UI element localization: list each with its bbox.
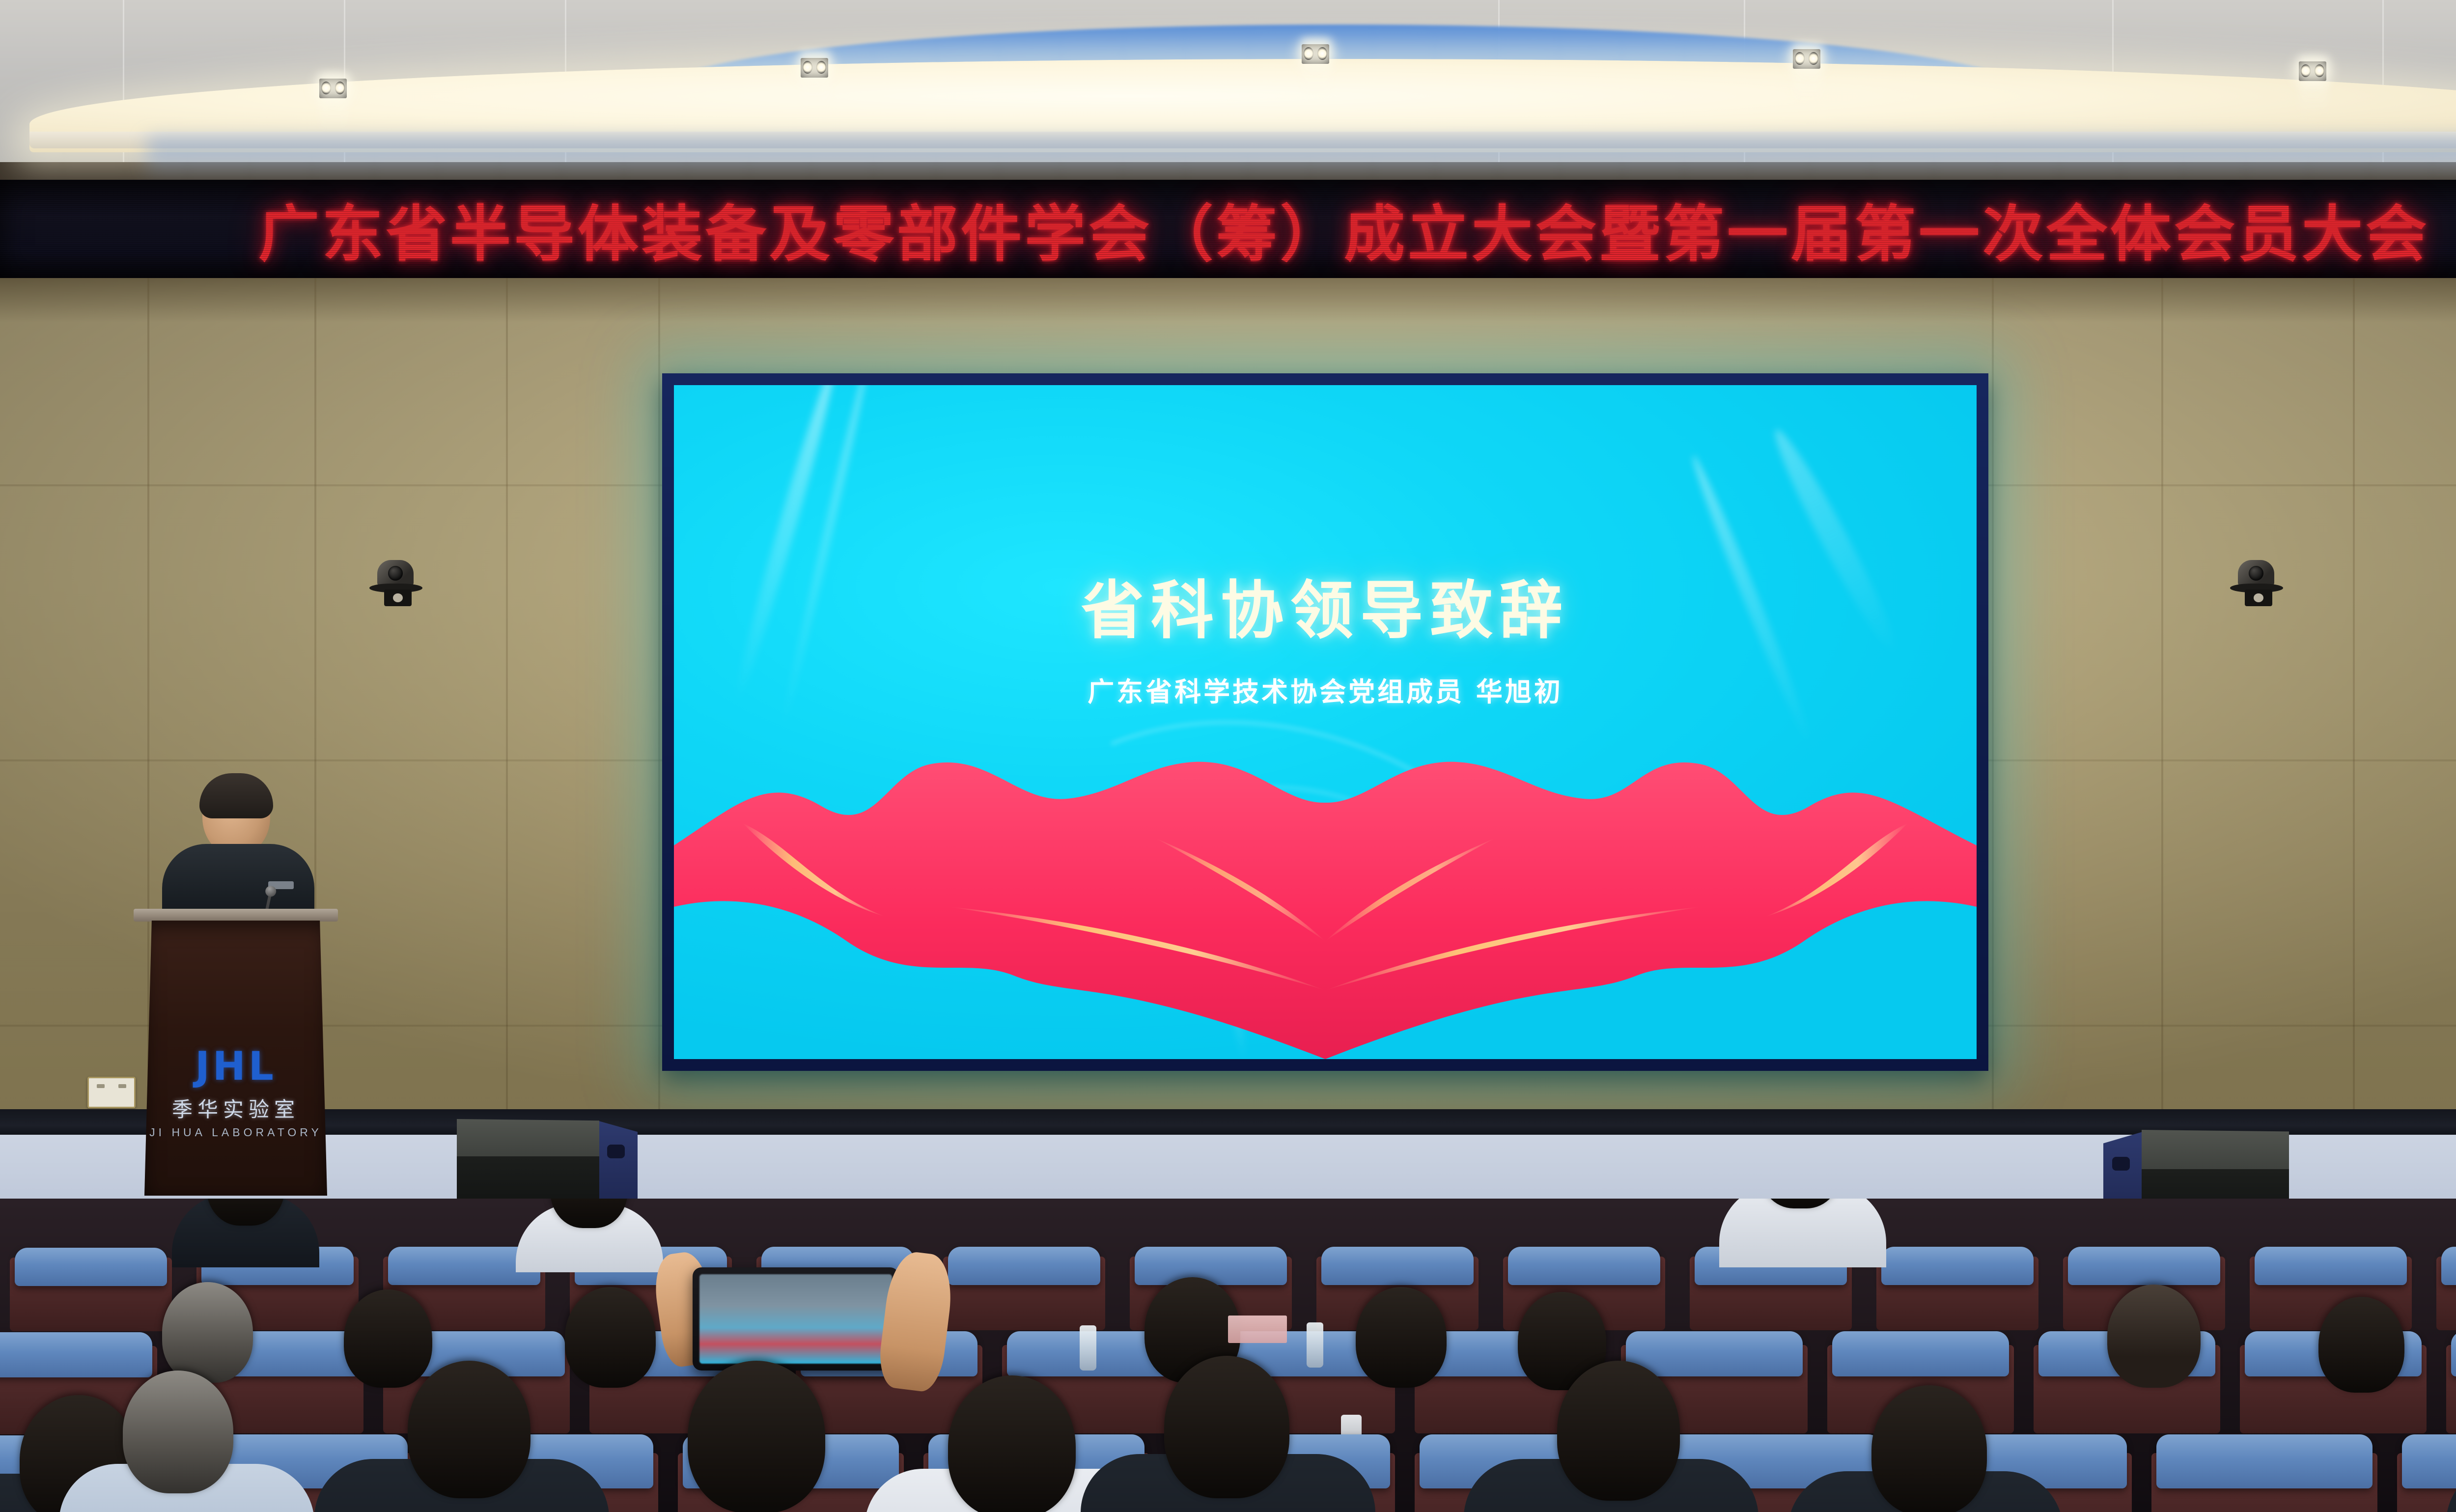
podium-body: JHL 季华实验室 JI HUA LABORATORY: [144, 921, 327, 1196]
seat: [2255, 1247, 2407, 1285]
podium-logo: JHL 季华实验室 JI HUA LABORATORY: [144, 1043, 327, 1139]
speaker-hair: [199, 773, 273, 818]
wall-power-outlet-left[interactable]: [87, 1077, 136, 1108]
slide-title: 省科协领导致辞: [674, 560, 1977, 650]
audience-head: [1557, 1361, 1680, 1501]
seat: [1832, 1331, 2009, 1376]
podium: JHL 季华实验室 JI HUA LABORATORY: [138, 909, 334, 1208]
ceiling-downlight: [319, 79, 347, 98]
seat: [948, 1247, 1100, 1285]
camera-head-icon: [2238, 560, 2274, 587]
seat: [1626, 1331, 1803, 1376]
phone-screen: [699, 1274, 892, 1364]
banner-text: 广东省半导体装备及零部件学会（筹）成立大会暨第一届第一次全体会员大会: [258, 184, 2429, 273]
slide-subtitle: 广东省科学技术协会党组成员 华旭初: [674, 670, 1977, 709]
camera-lens-icon: [388, 566, 403, 581]
name-placard: [1228, 1316, 1287, 1343]
seat: [2156, 1434, 2372, 1488]
camera-lens-icon: [2249, 566, 2263, 581]
audience-head: [2318, 1297, 2404, 1393]
podium-logo-initials: JHL: [144, 1043, 327, 1089]
stage-skirt: [0, 1109, 2456, 1137]
audience-head: [408, 1361, 530, 1498]
podium-top-surface: [134, 909, 338, 922]
ptz-camera-right: [2230, 560, 2283, 607]
seat: [1135, 1247, 1287, 1285]
audience-head: [344, 1289, 432, 1388]
seat: [1508, 1247, 1660, 1285]
led-display-frame: 省科协领导致辞 广东省科学技术协会党组成员 华旭初: [662, 373, 1988, 1071]
conference-hall-photo: 广东省半导体装备及零部件学会（筹）成立大会暨第一届第一次全体会员大会: [0, 0, 2456, 1512]
seat: [1881, 1247, 2034, 1285]
audience-head: [1164, 1356, 1289, 1498]
camera-head-icon: [377, 560, 414, 587]
seat: [0, 1332, 152, 1377]
ceiling-downlight: [801, 58, 828, 78]
led-banner: 广东省半导体装备及零部件学会（筹）成立大会暨第一届第一次全体会员大会: [0, 180, 2456, 280]
podium-logo-chinese: 季华实验室: [144, 1093, 327, 1123]
audience-head: [123, 1371, 233, 1493]
water-bottle: [1080, 1325, 1096, 1371]
smartphone-camera: [693, 1267, 899, 1371]
audience-head: [1356, 1287, 1447, 1388]
ceiling-downlight: [1793, 49, 1820, 69]
water-bottle: [1307, 1322, 1323, 1368]
ptz-camera-left: [369, 560, 422, 607]
seat: [15, 1248, 167, 1286]
audience-head: [2107, 1285, 2201, 1388]
audience-head: [1871, 1385, 1987, 1512]
seat: [1321, 1247, 1474, 1285]
seat: [2402, 1434, 2456, 1488]
seat: [2068, 1247, 2220, 1285]
ceiling-downlight: [1302, 44, 1329, 64]
audience-head: [162, 1282, 253, 1383]
audience-head: [688, 1361, 825, 1512]
audience-area: [0, 1199, 2456, 1512]
ribbon-graphic: [674, 745, 1977, 1059]
audience-head: [565, 1287, 656, 1388]
led-display-screen: 省科协领导致辞 广东省科学技术协会党组成员 华旭初: [674, 385, 1977, 1059]
ceiling-downlight: [2299, 61, 2326, 81]
speaker-person: [157, 776, 319, 924]
podium-logo-english: JI HUA LABORATORY: [144, 1126, 327, 1139]
seat: [2441, 1247, 2456, 1285]
